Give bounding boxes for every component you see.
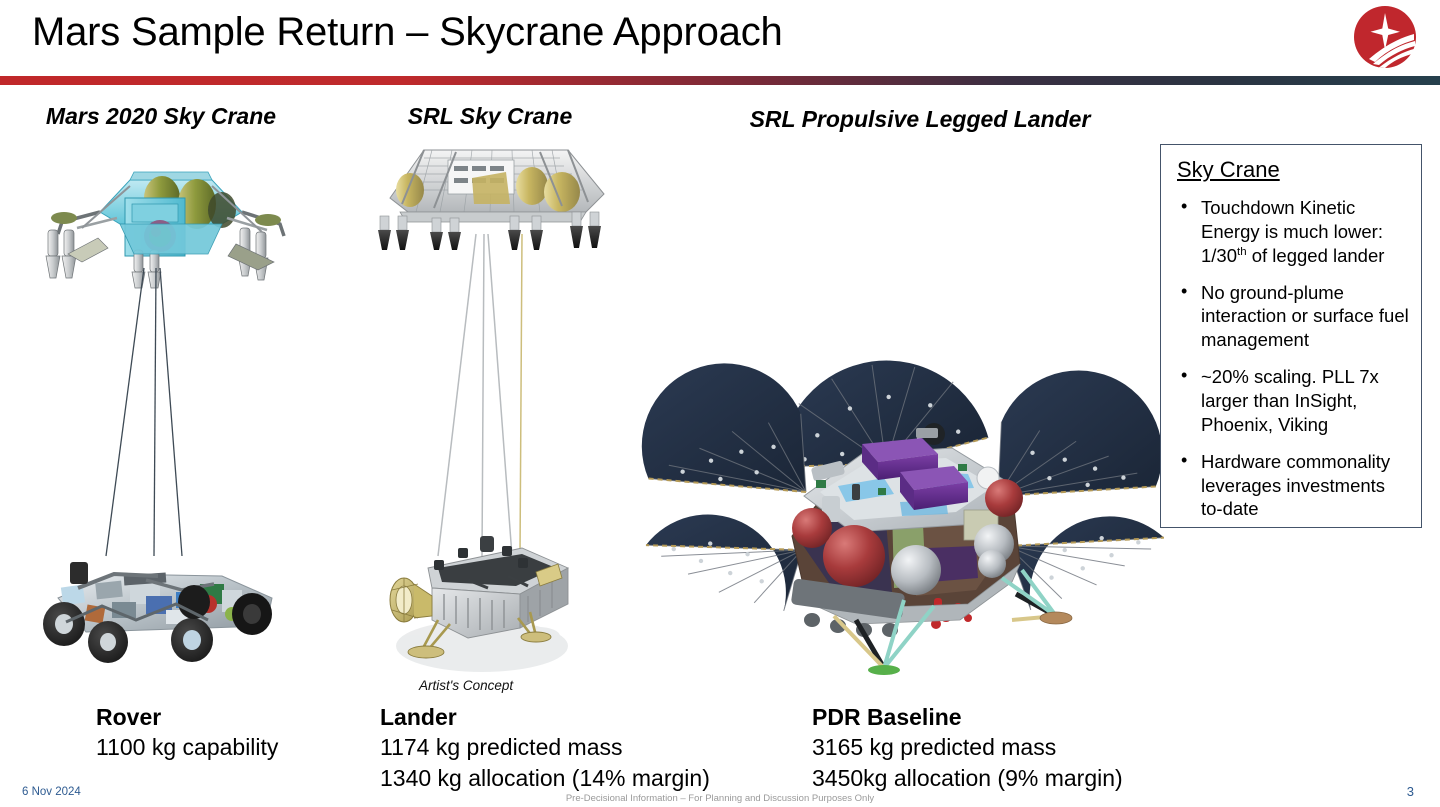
bullet-glyph: • bbox=[1181, 280, 1187, 303]
callout-bullet-list: • Touchdown Kinetic Energy is much lower… bbox=[1175, 196, 1411, 521]
page-title: Mars Sample Return – Skycrane Approach bbox=[32, 10, 783, 55]
bullet-glyph: • bbox=[1181, 449, 1187, 472]
callout-bullet-3: • Hardware commonality leverages investm… bbox=[1175, 450, 1411, 522]
column-heading-mars-2020: Mars 2020 Sky Crane bbox=[38, 100, 284, 133]
bullet-superscript: th bbox=[1237, 246, 1247, 258]
caption-title: Rover bbox=[96, 702, 278, 732]
sky-crane-callout-box: Sky Crane • Touchdown Kinetic Energy is … bbox=[1160, 144, 1422, 528]
caption-rover: Rover 1100 kg capability bbox=[96, 702, 278, 763]
bridle-cables-srl-sky-crane bbox=[404, 234, 584, 560]
callout-bullet-2: • ~20% scaling. PLL 7x larger than InSig… bbox=[1175, 365, 1411, 437]
column-heading-srl-sky-crane: SRL Sky Crane bbox=[340, 100, 640, 133]
bullet-text-post: of legged lander bbox=[1247, 245, 1385, 266]
column-heading-srl-propulsive-legged-lander: SRL Propulsive Legged Lander bbox=[700, 103, 1140, 136]
caption-line: 3450kg allocation (9% margin) bbox=[812, 763, 1123, 793]
mars-mission-logo bbox=[1352, 4, 1418, 70]
caption-line: 3165 kg predicted mass bbox=[812, 732, 1123, 762]
header-divider bbox=[0, 76, 1440, 85]
artist-concept-note: Artist's Concept bbox=[419, 678, 513, 693]
caption-title: Lander bbox=[380, 702, 710, 732]
srl-propulsive-legged-lander-image bbox=[616, 368, 1186, 678]
callout-bullet-0: • Touchdown Kinetic Energy is much lower… bbox=[1175, 196, 1411, 268]
footer-page-number: 3 bbox=[1407, 784, 1414, 799]
callout-title: Sky Crane bbox=[1177, 157, 1411, 183]
footer-classification: Pre-Decisional Information – For Plannin… bbox=[0, 793, 1440, 804]
mars-2020-rover-image bbox=[26, 540, 306, 670]
caption-lander: Lander 1174 kg predicted mass 1340 kg al… bbox=[380, 702, 710, 793]
slide-root: Mars Sample Return – Skycrane Approach M… bbox=[0, 0, 1440, 807]
caption-pdr-baseline: PDR Baseline 3165 kg predicted mass 3450… bbox=[812, 702, 1123, 793]
caption-title: PDR Baseline bbox=[812, 702, 1123, 732]
bullet-text: No ground-plume interaction or surface f… bbox=[1201, 282, 1409, 351]
bullet-text: ~20% scaling. PLL 7x larger than InSight… bbox=[1201, 366, 1379, 435]
bullet-glyph: • bbox=[1181, 195, 1187, 218]
bridle-cables-mars-2020 bbox=[96, 268, 256, 558]
caption-line: 1340 kg allocation (14% margin) bbox=[380, 763, 710, 793]
caption-line: 1100 kg capability bbox=[96, 732, 278, 762]
caption-line: 1174 kg predicted mass bbox=[380, 732, 710, 762]
bullet-text: Hardware commonality leverages investmen… bbox=[1201, 451, 1390, 520]
bullet-glyph: • bbox=[1181, 364, 1187, 387]
srl-lander-payload-image bbox=[372, 524, 622, 684]
callout-bullet-1: • No ground-plume interaction or surface… bbox=[1175, 281, 1411, 353]
